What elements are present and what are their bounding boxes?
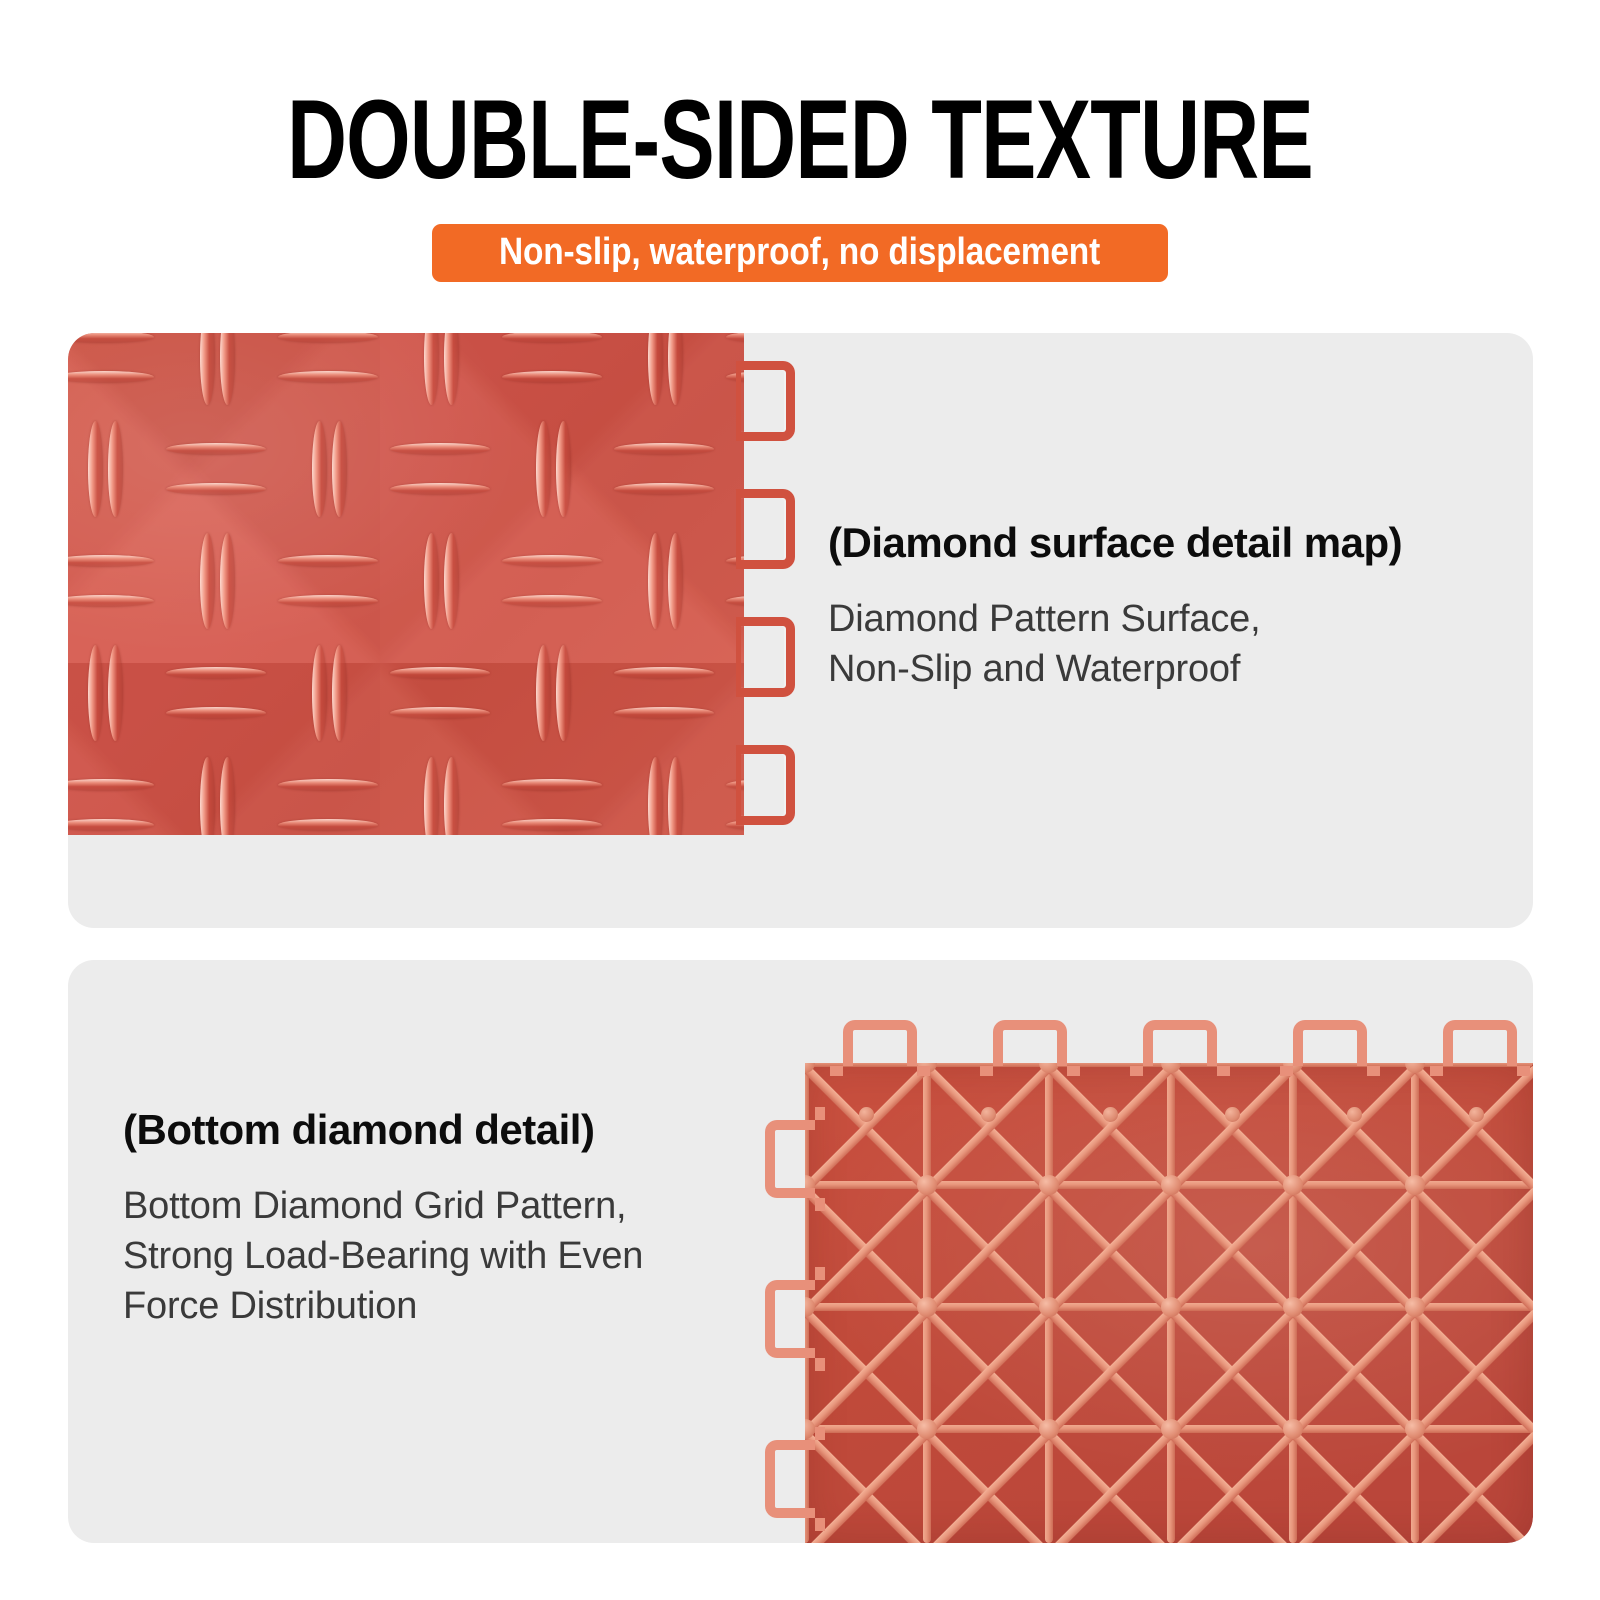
tile-underside-grid-image: [765, 1020, 1533, 1543]
grid-node-small: [1103, 1107, 1118, 1122]
diamond-plate-cell: [384, 333, 496, 413]
diamond-lens-horizontal: [614, 443, 714, 455]
diamond-lens-horizontal: [166, 667, 266, 679]
diamond-lens-horizontal: [68, 595, 154, 607]
diamond-lens-horizontal: [726, 333, 744, 343]
connector-tab: [740, 361, 795, 441]
grid-node-small: [981, 1107, 996, 1122]
grid-node: [1405, 1419, 1425, 1439]
grid-node: [1039, 1419, 1059, 1439]
diamond-lens-horizontal: [166, 707, 266, 719]
diamond-lens-vertical: [648, 533, 663, 629]
grid-node: [917, 1297, 937, 1317]
grid-node: [1405, 1175, 1425, 1195]
diamond-lens-vertical: [200, 333, 215, 405]
diamond-plate-cell: [496, 333, 608, 413]
diamond-lens-vertical: [648, 757, 663, 835]
diamond-lens-horizontal: [68, 819, 154, 831]
diamond-lens-vertical: [556, 421, 571, 517]
grid-node: [1405, 1297, 1425, 1317]
diamond-lens-horizontal: [166, 483, 266, 495]
diamond-plate-cell: [496, 637, 608, 749]
grid-node-small: [1469, 1107, 1484, 1122]
grid-node: [1039, 1297, 1059, 1317]
panel-diamond-surface: (Diamond surface detail map) Diamond Pat…: [68, 333, 1533, 928]
diamond-lens-vertical: [200, 533, 215, 629]
text-block-bottom-diamond: (Bottom diamond detail) Bottom Diamond G…: [123, 1105, 763, 1331]
diamond-plate-cell: [68, 413, 160, 525]
diamond-lens-horizontal: [390, 443, 490, 455]
connector-tab: [765, 1280, 815, 1358]
diamond-lens-vertical: [312, 645, 327, 741]
grid-node: [917, 1175, 937, 1195]
connector-tab: [843, 1020, 917, 1066]
connector-tab: [1293, 1020, 1367, 1066]
panel-heading: (Bottom diamond detail): [123, 1105, 763, 1155]
connector-tab: [765, 1440, 815, 1518]
diamond-lens-vertical: [424, 533, 439, 629]
diamond-lens-horizontal: [68, 371, 154, 383]
connector-tab: [993, 1020, 1067, 1066]
grid-node-small: [1225, 1107, 1240, 1122]
diamond-lens-horizontal: [68, 555, 154, 567]
diamond-lens-horizontal: [726, 595, 744, 607]
diamond-plate-cell: [160, 749, 272, 835]
diamond-lens-horizontal: [614, 667, 714, 679]
grid-node: [1161, 1419, 1181, 1439]
diamond-plate-cell: [272, 749, 384, 835]
diamond-lens-horizontal: [166, 443, 266, 455]
grid-node: [1039, 1175, 1059, 1195]
diamond-plate-cell: [68, 637, 160, 749]
diamond-plate-cell: [272, 525, 384, 637]
header: DOUBLE-SIDED TEXTURE Non-slip, waterproo…: [0, 0, 1600, 300]
connector-tab: [1143, 1020, 1217, 1066]
panel-bottom-diamond: (Bottom diamond detail) Bottom Diamond G…: [68, 960, 1533, 1543]
grid-node: [1161, 1297, 1181, 1317]
diamond-lens-vertical: [312, 421, 327, 517]
grid-node: [1283, 1175, 1303, 1195]
grid-ribs: [805, 1063, 1533, 1543]
diamond-lens-vertical: [88, 645, 103, 741]
diamond-lens-vertical: [536, 645, 551, 741]
diamond-lens-horizontal: [502, 779, 602, 791]
panel-body-line-3: Force Distribution: [123, 1281, 763, 1331]
diamond-plate-tile-image: [68, 333, 744, 835]
tagline-badge: Non-slip, waterproof, no displacement: [432, 224, 1167, 282]
connector-tab: [740, 489, 795, 569]
diamond-lens-horizontal: [614, 483, 714, 495]
diamond-lens-horizontal: [502, 371, 602, 383]
diamond-lens-vertical: [220, 757, 235, 835]
diamond-lens-horizontal: [278, 555, 378, 567]
diamond-lens-horizontal: [68, 333, 154, 343]
grid-node-small: [859, 1107, 874, 1122]
diamond-lens-vertical: [332, 645, 347, 741]
diamond-lens-vertical: [424, 757, 439, 835]
grid-node: [1283, 1419, 1303, 1439]
diamond-lens-vertical: [556, 645, 571, 741]
diamond-plate-cell: [384, 413, 496, 525]
diamond-plate-cell: [384, 525, 496, 637]
connector-tab: [765, 1120, 815, 1198]
tagline-badge-label: Non-slip, waterproof, no displacement: [499, 233, 1100, 271]
diamond-lens-vertical: [108, 645, 123, 741]
diamond-lens-horizontal: [614, 707, 714, 719]
diamond-plate-cell: [160, 525, 272, 637]
diamond-lens-vertical: [220, 533, 235, 629]
diamond-lens-horizontal: [68, 779, 154, 791]
diamond-lens-vertical: [536, 421, 551, 517]
text-block-diamond-surface: (Diamond surface detail map) Diamond Pat…: [828, 518, 1488, 694]
diamond-plate-cell: [496, 749, 608, 835]
diamond-lens-vertical: [424, 333, 439, 405]
diamond-plate-cell: [608, 333, 720, 413]
grid-node-small: [1347, 1107, 1362, 1122]
tagline-badge-wrap: Non-slip, waterproof, no displacement: [0, 224, 1600, 282]
diamond-lens-horizontal: [390, 667, 490, 679]
diamond-lens-vertical: [220, 333, 235, 405]
grid-node: [1283, 1297, 1303, 1317]
diamond-plate-cell: [160, 637, 272, 749]
diamond-lens-horizontal: [502, 819, 602, 831]
diamond-lens-horizontal: [278, 371, 378, 383]
diamond-lens-vertical: [668, 333, 683, 405]
diamond-plate-cell: [496, 413, 608, 525]
panel-body-line-1: Bottom Diamond Grid Pattern,: [123, 1181, 763, 1231]
diamond-lens-vertical: [200, 757, 215, 835]
diamond-lens-vertical: [332, 421, 347, 517]
diamond-plate-cell: [160, 413, 272, 525]
diamond-lens-horizontal: [278, 595, 378, 607]
diamond-plate-cell: [384, 749, 496, 835]
diamond-lens-vertical: [668, 757, 683, 835]
diamond-plate-cell: [384, 637, 496, 749]
diamond-plate-cell: [272, 637, 384, 749]
grid-node: [1161, 1175, 1181, 1195]
diamond-lens-horizontal: [278, 779, 378, 791]
panel-heading: (Diamond surface detail map): [828, 518, 1488, 568]
diamond-lens-vertical: [444, 533, 459, 629]
connector-tab: [740, 617, 795, 697]
diamond-lens-vertical: [668, 533, 683, 629]
diamond-lens-horizontal: [390, 483, 490, 495]
grid-rib-diagonal: [1412, 1430, 1533, 1543]
diamond-lens-horizontal: [278, 333, 378, 343]
diamond-lens-horizontal: [390, 707, 490, 719]
diamond-lens-horizontal: [502, 555, 602, 567]
diamond-plate-pattern: [68, 333, 744, 835]
diamond-lens-horizontal: [278, 819, 378, 831]
diamond-lens-vertical: [648, 333, 663, 405]
diamond-lens-horizontal: [502, 595, 602, 607]
diamond-plate-cell: [608, 637, 720, 749]
diamond-plate-cell: [68, 525, 160, 637]
diamond-plate-cell: [68, 333, 160, 413]
connector-tab: [1443, 1020, 1517, 1066]
diamond-plate-cell: [608, 525, 720, 637]
panel-body-line-2: Strong Load-Bearing with Even: [123, 1231, 763, 1281]
diamond-plate-cell: [68, 749, 160, 835]
grid-node: [917, 1419, 937, 1439]
diamond-plate-cell: [272, 333, 384, 413]
diamond-plate-cell: [608, 749, 720, 835]
diamond-lens-horizontal: [502, 333, 602, 343]
diamond-plate-cell: [496, 525, 608, 637]
diamond-lens-vertical: [88, 421, 103, 517]
diamond-plate-cell: [608, 413, 720, 525]
diamond-plate-cell: [160, 333, 272, 413]
diamond-lens-vertical: [108, 421, 123, 517]
page-title: DOUBLE-SIDED TEXTURE: [208, 84, 1392, 196]
connector-tab: [740, 745, 795, 825]
panel-body-line-2: Non-Slip and Waterproof: [828, 644, 1488, 694]
diamond-plate-cell: [272, 413, 384, 525]
panel-body-line-1: Diamond Pattern Surface,: [828, 594, 1488, 644]
diamond-lens-vertical: [444, 757, 459, 835]
diamond-lens-vertical: [444, 333, 459, 405]
